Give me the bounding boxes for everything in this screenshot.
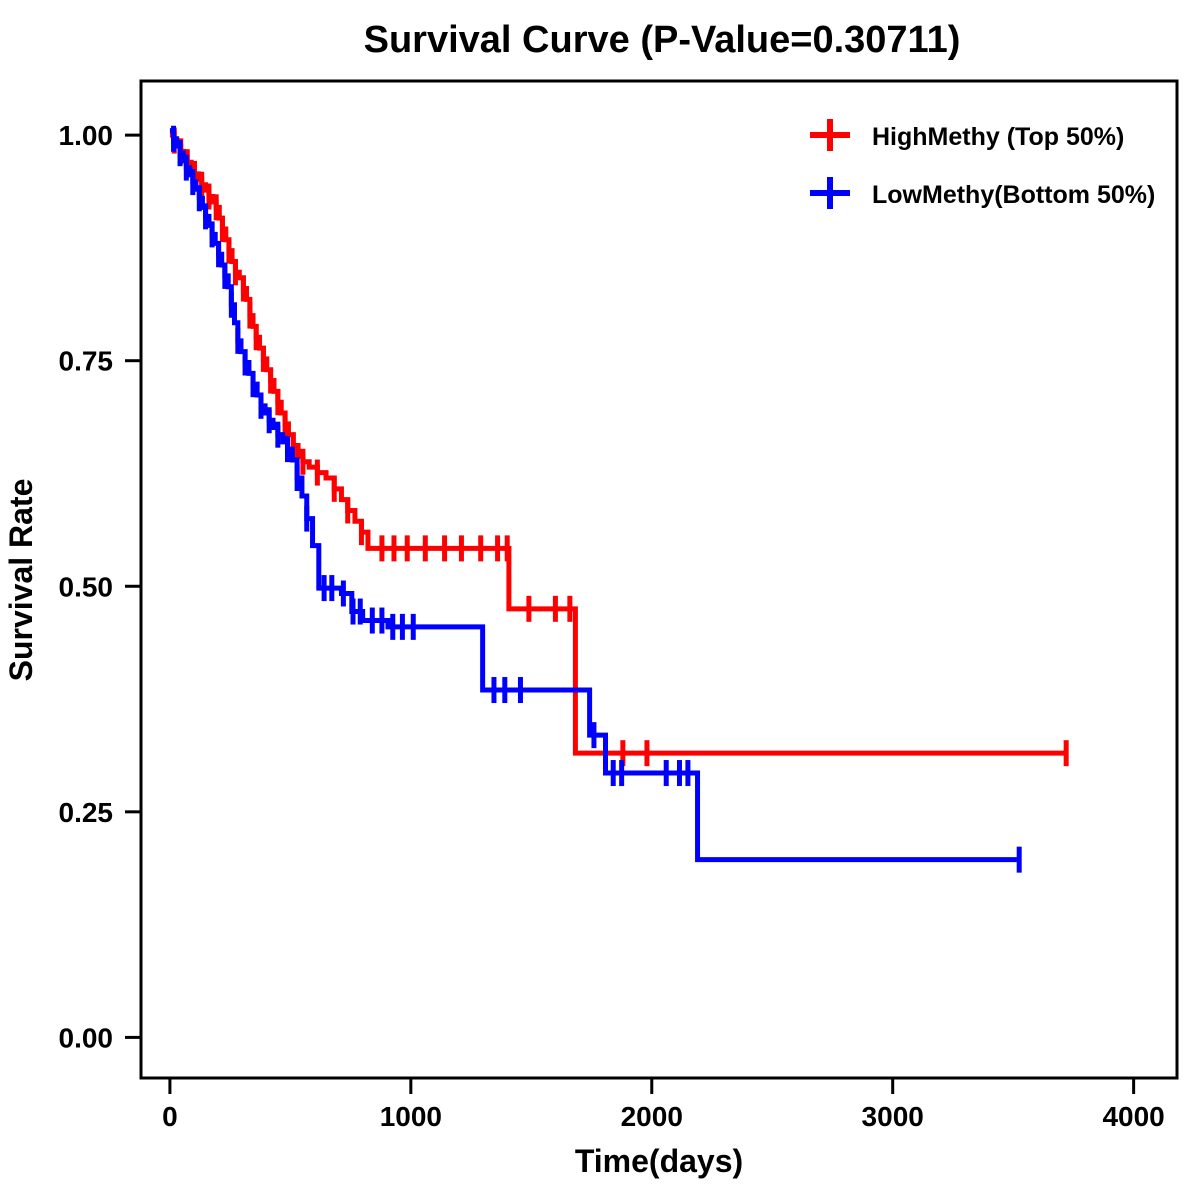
y-tick-label-0.00: 0.00 [59, 1022, 114, 1053]
y-tick-label-1.00: 1.00 [59, 120, 114, 151]
page-title: Survival Curve (P-Value=0.30711) [364, 19, 961, 61]
y-axis-label: Survival Rate [3, 479, 39, 682]
chart-canvas: Survival Curve (P-Value=0.30711) 0100020… [0, 0, 1200, 1200]
y-tick-label-0.50: 0.50 [59, 571, 114, 602]
x-tick-label-2000: 2000 [621, 1101, 683, 1132]
survival-curve-figure: Survival Curve (P-Value=0.30711) 0100020… [0, 0, 1200, 1200]
x-tick-label-0: 0 [162, 1101, 178, 1132]
y-tick-label-0.25: 0.25 [59, 797, 114, 828]
x-tick-label-4000: 4000 [1102, 1101, 1164, 1132]
x-axis-label: Time(days) [575, 1143, 743, 1179]
legend-label: LowMethy(Bottom 50%) [872, 181, 1155, 209]
legend-label: HighMethy (Top 50%) [872, 123, 1124, 151]
figure-background [0, 0, 1200, 1200]
x-tick-label-1000: 1000 [380, 1101, 442, 1132]
y-tick-label-0.75: 0.75 [59, 346, 114, 377]
x-tick-label-3000: 3000 [862, 1101, 924, 1132]
